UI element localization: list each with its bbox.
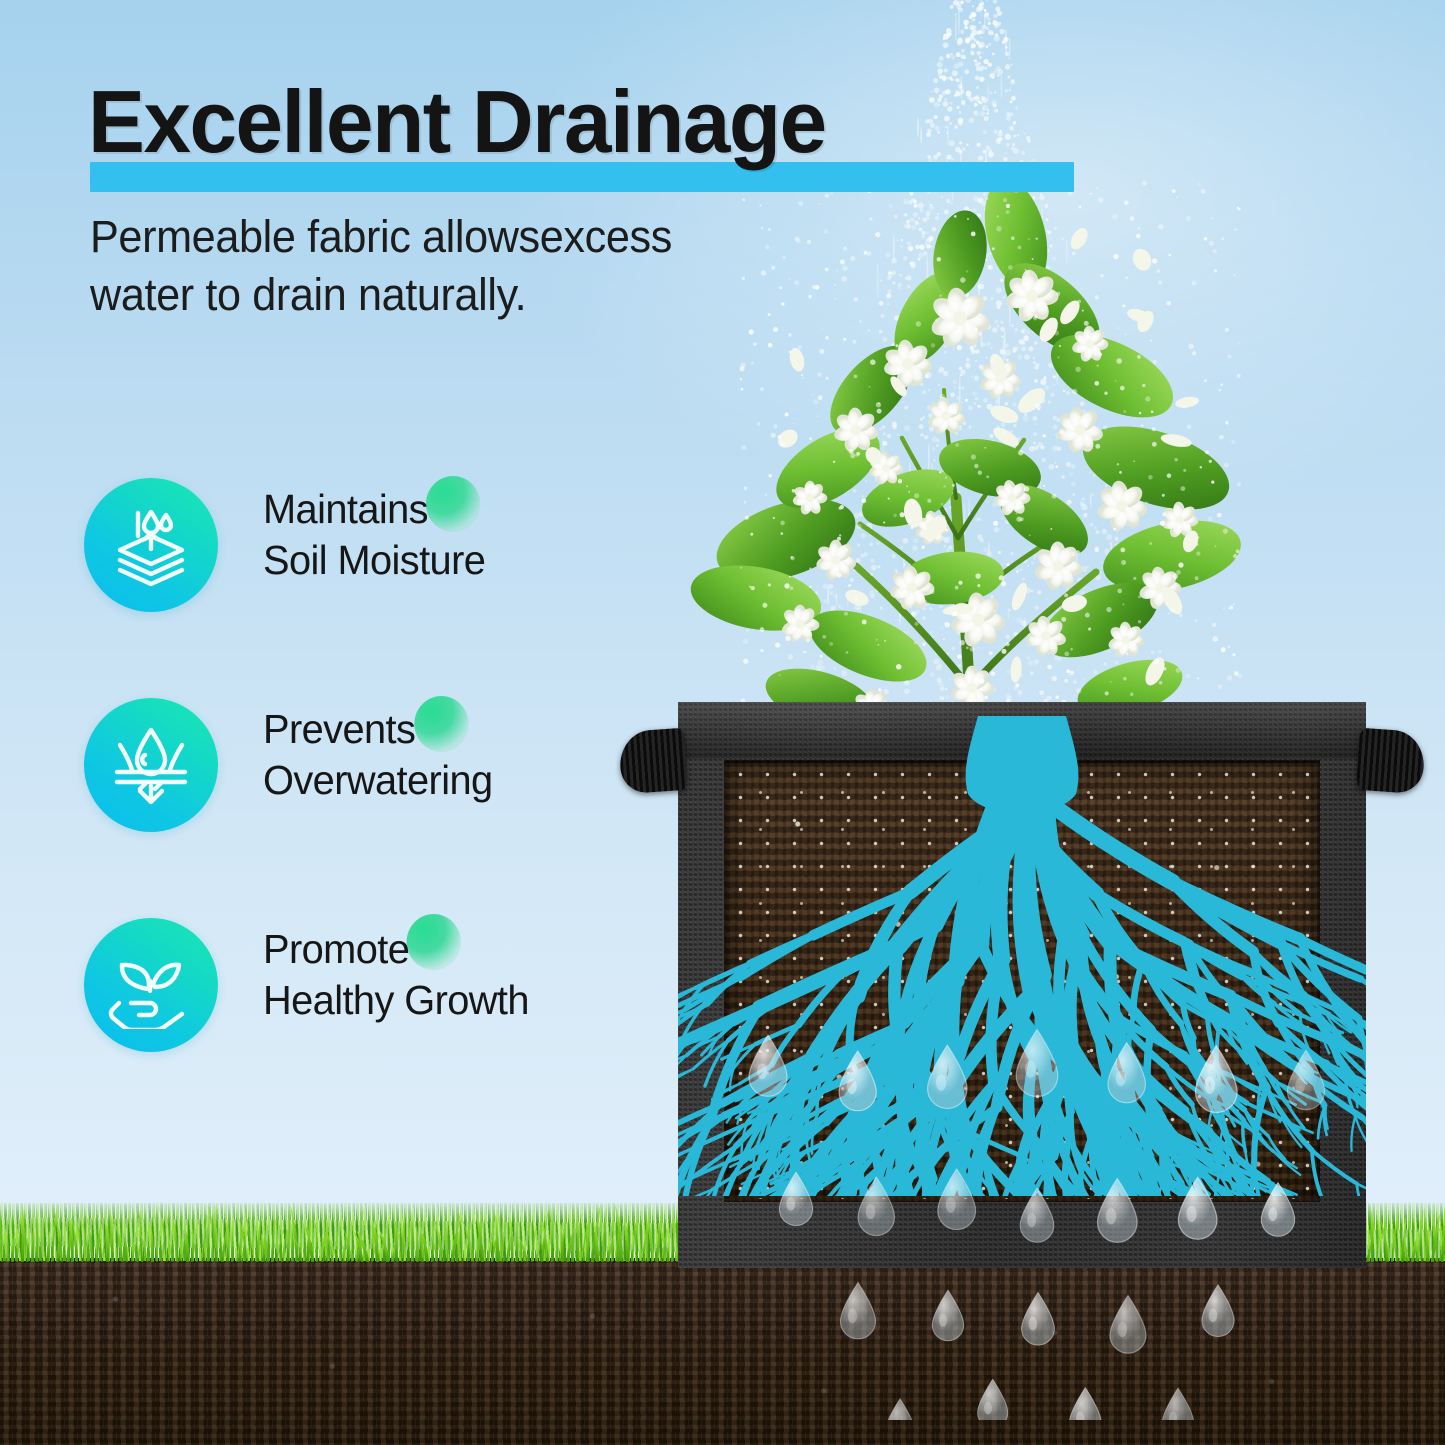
page-title: Excellent Drainage	[88, 78, 826, 166]
feature-list: Maintains Soil Moisture Preven	[84, 470, 644, 1130]
feature-item-prevents-overwatering[interactable]: Prevents Overwatering	[84, 690, 644, 910]
infographic-canvas: Excellent Drainage Permeable fabric allo…	[0, 0, 1445, 1445]
feature-item-maintains-soil-moisture[interactable]: Maintains Soil Moisture	[84, 470, 644, 690]
bag-handle-right	[1356, 728, 1426, 794]
feature-label-maintains-soil-moisture: Maintains Soil Moisture	[263, 484, 632, 586]
feature-label-line-2: Overwatering	[263, 755, 632, 806]
feature-label-line-2: Healthy Growth	[263, 975, 632, 1026]
feature-label-line-2: Soil Moisture	[263, 535, 632, 586]
subtitle-line-1: Permeable fabric allowsexcess	[90, 208, 781, 266]
headline-block: Excellent Drainage	[88, 78, 848, 166]
feature-label-line-1: Maintains	[263, 484, 632, 535]
feature-label-line-1: Promote	[263, 924, 632, 975]
feature-label-line-1: Prevents	[263, 704, 632, 755]
feature-label-promote-healthy-growth: Promote Healthy Growth	[263, 924, 632, 1026]
hand-holding-sprout-icon	[84, 918, 218, 1052]
feature-item-promote-healthy-growth[interactable]: Promote Healthy Growth	[84, 910, 644, 1130]
drop-through-permeable-membrane-icon	[84, 698, 218, 832]
feature-label-prevents-overwatering: Prevents Overwatering	[263, 704, 632, 806]
water-drops-on-soil-layers-icon	[84, 478, 218, 612]
draining-water-drops	[678, 1020, 1366, 1420]
page-subtitle: Permeable fabric allowsexcess water to d…	[90, 208, 781, 324]
subtitle-line-2: water to drain naturally.	[90, 266, 781, 324]
